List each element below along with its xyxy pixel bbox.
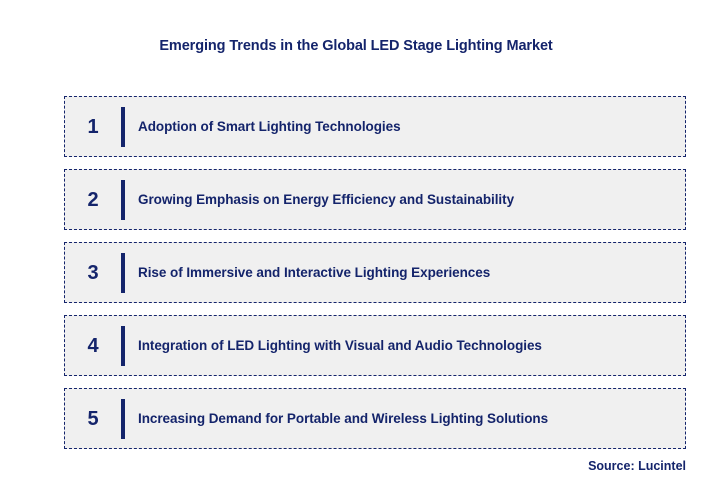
trends-diagram: Emerging Trends in the Global LED Stage … xyxy=(0,0,712,501)
trend-number: 5 xyxy=(65,409,121,429)
vertical-divider-icon xyxy=(121,107,125,147)
trend-number: 1 xyxy=(65,117,121,137)
trend-label: Increasing Demand for Portable and Wirel… xyxy=(138,411,685,426)
trend-number: 2 xyxy=(65,190,121,210)
trend-label: Growing Emphasis on Energy Efficiency an… xyxy=(138,192,685,207)
trend-label: Adoption of Smart Lighting Technologies xyxy=(138,119,685,134)
trend-number: 4 xyxy=(65,336,121,356)
trend-list: 1 Adoption of Smart Lighting Technologie… xyxy=(64,96,686,449)
vertical-divider-icon xyxy=(121,326,125,366)
vertical-divider-icon xyxy=(121,180,125,220)
list-item[interactable]: 3 Rise of Immersive and Interactive Ligh… xyxy=(64,242,686,303)
list-item[interactable]: 1 Adoption of Smart Lighting Technologie… xyxy=(64,96,686,157)
list-item[interactable]: 5 Increasing Demand for Portable and Wir… xyxy=(64,388,686,449)
vertical-divider-icon xyxy=(121,253,125,293)
trend-label: Integration of LED Lighting with Visual … xyxy=(138,338,685,353)
trend-number: 3 xyxy=(65,263,121,283)
list-item[interactable]: 4 Integration of LED Lighting with Visua… xyxy=(64,315,686,376)
list-item[interactable]: 2 Growing Emphasis on Energy Efficiency … xyxy=(64,169,686,230)
trend-label: Rise of Immersive and Interactive Lighti… xyxy=(138,265,685,280)
vertical-divider-icon xyxy=(121,399,125,439)
page-title: Emerging Trends in the Global LED Stage … xyxy=(0,38,712,54)
source-note: Source: Lucintel xyxy=(588,459,686,473)
